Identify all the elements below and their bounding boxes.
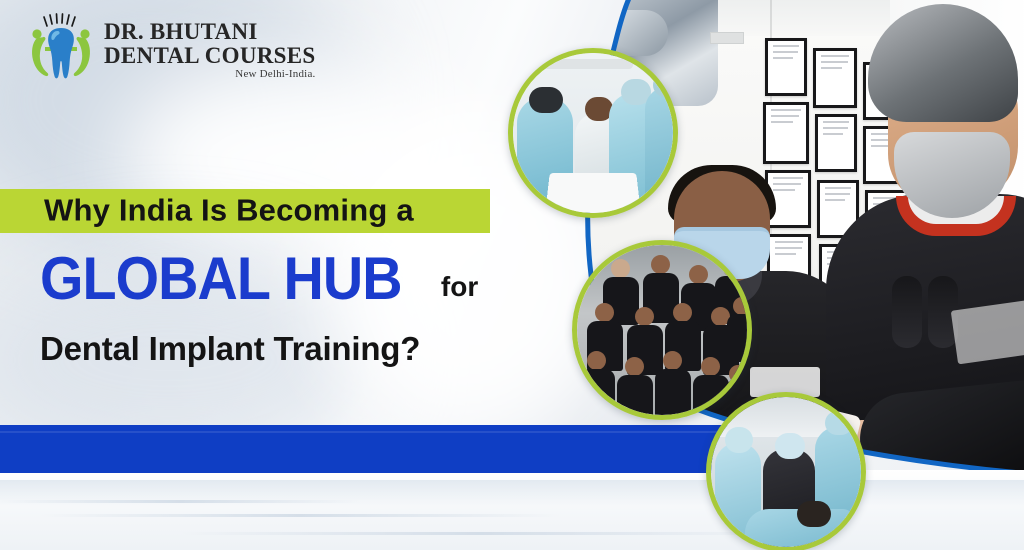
floor-area bbox=[0, 470, 1024, 550]
brand-logo[interactable]: DR. BHUTANI DENTAL COURSES New Delhi-Ind… bbox=[28, 12, 315, 84]
headline-for: for bbox=[441, 271, 478, 303]
headline-line-1-highlight: Why India Is Becoming a bbox=[0, 189, 490, 233]
framed-certificate bbox=[765, 38, 807, 96]
headline-line-1-text: Why India Is Becoming a bbox=[44, 192, 414, 228]
bubble-live-patient-procedure bbox=[706, 392, 866, 550]
brand-tagline: New Delhi-India. bbox=[104, 69, 315, 80]
headline-line-3: Dental Implant Training? bbox=[40, 330, 420, 368]
wall-vent bbox=[710, 32, 744, 44]
framed-certificate bbox=[763, 102, 809, 164]
bubble-course-group-photo bbox=[572, 240, 752, 420]
brand-line-1: DR. BHUTANI bbox=[104, 20, 315, 43]
tooth-with-hands-icon bbox=[28, 12, 94, 84]
group-photo bbox=[577, 245, 747, 415]
brand-name: DR. BHUTANI DENTAL COURSES New Delhi-Ind… bbox=[104, 16, 315, 80]
blue-accent-bar bbox=[0, 425, 740, 473]
live-procedure-photo bbox=[711, 397, 861, 547]
headline-global-hub: GLOBAL HUB bbox=[40, 250, 402, 309]
promotional-banner: Why India Is Becoming a GLOBAL HUB for D… bbox=[0, 0, 1024, 550]
headline-line-2: GLOBAL HUB for bbox=[40, 250, 478, 309]
brand-line-2: DENTAL COURSES bbox=[104, 44, 315, 67]
training-session-photo bbox=[513, 53, 673, 213]
bubble-hands-on-training bbox=[508, 48, 678, 218]
